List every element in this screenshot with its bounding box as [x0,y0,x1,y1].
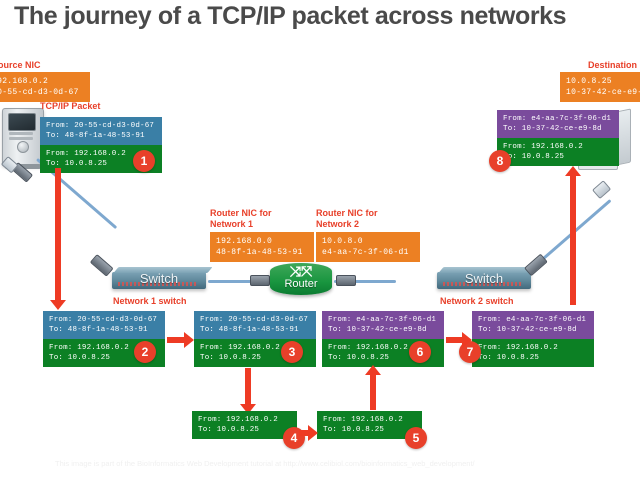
source-nic-label: Source NIC [0,60,41,71]
step-badge-5: 5 [405,427,427,449]
step-badge-8: 8 [489,150,511,172]
arrow-5-to-6-head [365,365,381,375]
router-left-connector [250,275,270,286]
network-1-switch-label: Network 1 switch [113,296,187,307]
network-1-switch: Switch [112,272,206,289]
router-arrows-icon: ⤨⤧ [287,264,315,278]
router-device-label: Router [270,278,332,290]
tcpip-packet-label: TCP/IP Packet [40,101,100,112]
network-2-switch-label: Network 2 switch [440,296,514,307]
router: ⤨⤧ Router [270,258,332,298]
arrow-1-to-2-head [50,300,66,310]
diagram-canvas: The journey of a TCP/IP packet across ne… [0,0,640,480]
arrow-1-to-2 [55,168,61,303]
pc-drive-slot-icon [9,132,33,135]
packet-4: From: 192.168.0.2 To: 10.0.8.25 [192,411,297,439]
step-badge-3: 3 [281,341,303,363]
arrow-6-to-7 [446,337,463,343]
arrow-7-to-8-head [565,166,581,176]
packet-1-mac-header: From: 20-55-cd-d3-0d-67 To: 48-8f-1a-48-… [40,117,162,145]
router-nic-1-label: Router NIC for Network 1 [210,208,272,230]
switch1-cable-connector [90,254,114,277]
source-nic-box: 192.168.0.2 20-55-cd-d3-0d-67 [0,72,90,102]
switch-device-icon: Switch [112,272,206,289]
pc-power-button-icon [17,141,29,153]
arrow-2-to-3-head [184,332,194,348]
switch-device-icon: Switch [437,272,531,289]
arrow-4-to-5-head [308,425,318,441]
arrow-7-to-8 [570,175,576,305]
packet-3-mac-header: From: 20-55-cd-d3-0d-67 To: 48-8f-1a-48-… [194,311,316,339]
step-badge-6: 6 [409,341,431,363]
arrow-6-to-7-head [462,332,472,348]
packet-2-mac-header: From: 20-55-cd-d3-0d-67 To: 48-8f-1a-48-… [43,311,165,339]
arrow-2-to-3 [167,337,185,343]
packet-7-ip-header: From: 192.168.0.2 To: 10.0.8.25 [472,339,594,367]
packet-4-ip-header: From: 192.168.0.2 To: 10.0.8.25 [192,411,297,439]
router-right-connector [336,275,356,286]
arrow-3-to-4 [245,368,251,406]
pc-screen-icon [8,113,36,131]
packet-7: From: e4-aa-7c-3f-06-d1 To: 10-37-42-ce-… [472,311,594,367]
network-2-switch: Switch [437,272,531,289]
router-nic-2-label: Router NIC for Network 2 [316,208,378,230]
packet-8: From: e4-aa-7c-3f-06-d1 To: 10-37-42-ce-… [497,110,619,166]
footer-attribution: This image is part of the BioInformatics… [55,459,595,468]
step-badge-2: 2 [134,341,156,363]
step-badge-1: 1 [133,150,155,172]
destination-cable-plug [592,180,611,199]
switch-device-label: Switch [112,271,206,286]
destination-nic-box: 10.0.8.25 10-37-42-ce-e9-8d [560,72,640,102]
packet-8-ip-header: From: 192.168.0.2 To: 10.0.8.25 [497,138,619,166]
arrow-5-to-6 [370,372,376,410]
pc-drive-slot-icon [9,137,33,140]
page-title: The journey of a TCP/IP packet across ne… [14,2,638,31]
router-device-icon: ⤨⤧ Router [270,258,332,298]
switch2-cable-connector [524,254,548,277]
switch-device-label: Switch [437,271,531,286]
packet-7-mac-header: From: e4-aa-7c-3f-06-d1 To: 10-37-42-ce-… [472,311,594,339]
packet-8-mac-header: From: e4-aa-7c-3f-06-d1 To: 10-37-42-ce-… [497,110,619,138]
packet-6-mac-header: From: e4-aa-7c-3f-06-d1 To: 10-37-42-ce-… [322,311,444,339]
